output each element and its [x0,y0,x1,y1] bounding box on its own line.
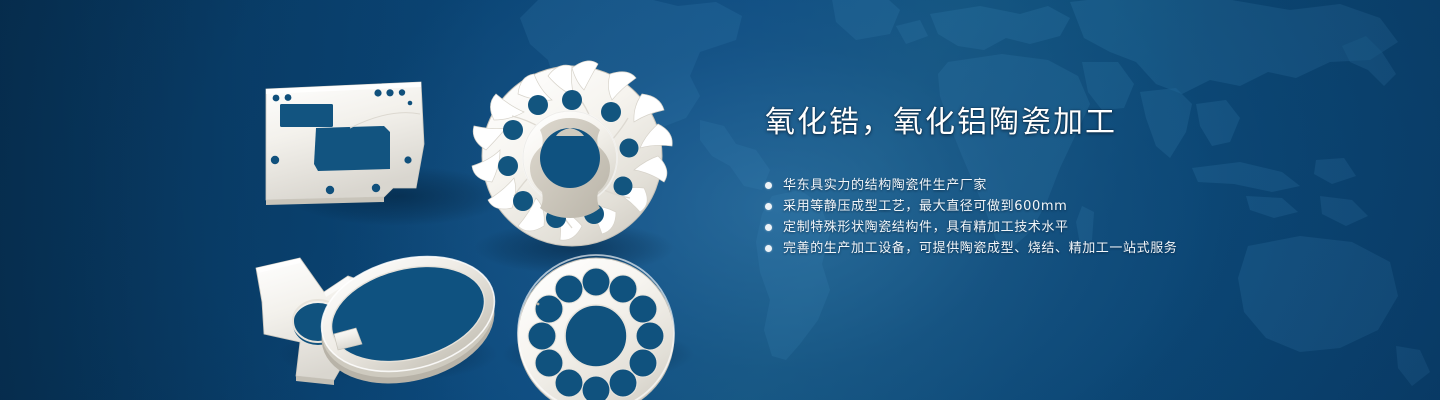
feature-text: 采用等静压成型工艺，最大直径可做到600mm [783,196,1067,217]
feature-item-1: 华东具实力的结构陶瓷件生产厂家 [765,175,1365,196]
ceramic-products-image [238,36,698,381]
feature-list: 华东具实力的结构陶瓷件生产厂家 采用等静压成型工艺，最大直径可做到600mm 定… [765,175,1365,259]
banner-copy: 氧化锆，氧化铝陶瓷加工 华东具实力的结构陶瓷件生产厂家 采用等静压成型工艺，最大… [765,108,1365,259]
feature-text: 完善的生产加工设备，可提供陶瓷成型、烧结、精加工一站式服务 [783,238,1177,259]
banner-headline: 氧化锆，氧化铝陶瓷加工 [765,108,1365,138]
feature-item-4: 完善的生产加工设备，可提供陶瓷成型、烧结、精加工一站式服务 [765,238,1365,259]
bullet-dot-icon [765,224,772,231]
feature-text: 华东具实力的结构陶瓷件生产厂家 [783,175,987,196]
ceramic-perforated-disc [518,255,674,400]
feature-text: 定制特殊形状陶瓷结构件，具有精加工技术水平 [783,217,1069,238]
bullet-dot-icon [765,182,772,189]
ceramic-impeller-disc [472,61,672,246]
hero-banner: 氧化锆，氧化铝陶瓷加工 华东具实力的结构陶瓷件生产厂家 采用等静压成型工艺，最大… [0,0,1440,400]
bullet-dot-icon [765,203,772,210]
feature-item-2: 采用等静压成型工艺，最大直径可做到600mm [765,196,1365,217]
feature-item-3: 定制特殊形状陶瓷结构件，具有精加工技术水平 [765,217,1365,238]
ceramic-mounting-plate [266,82,424,205]
bullet-dot-icon [765,245,772,252]
